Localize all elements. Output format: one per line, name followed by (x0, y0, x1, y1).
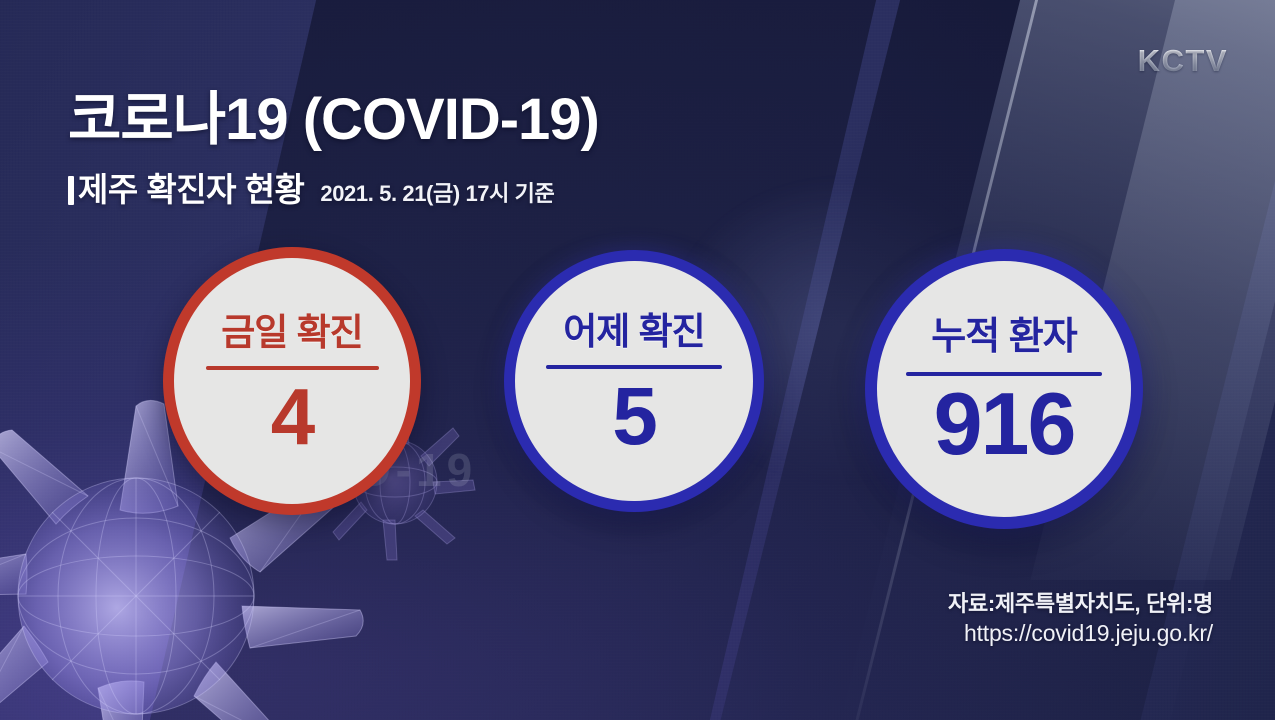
stat-value-today: 4 (271, 379, 314, 455)
kctv-logo: KCTV (1138, 43, 1228, 79)
stat-circle-cumulative: 누적 환자 916 (865, 249, 1143, 529)
stat-label-yesterday: 어제 확진 (563, 313, 704, 350)
subtitle-wrapper: 제주 확진자 현황 (68, 163, 304, 211)
broadcast-graphic: COVID-19 KCTV 코로나19 (COVID-19) 제주 확진자 현황… (0, 0, 1275, 720)
page-subtitle: 제주 확진자 현황 (78, 171, 304, 208)
accent-bar-icon (68, 176, 74, 205)
stat-divider-yesterday (546, 365, 722, 369)
stat-value-yesterday: 5 (612, 378, 656, 456)
source-credit: 자료:제주특별자치도, 단위:명 (948, 590, 1213, 618)
as-of-timestamp: 2021. 5. 21(금) 17시 기준 (320, 176, 554, 208)
stat-label-today: 금일 확진 (221, 314, 362, 351)
stat-value-cumulative: 916 (934, 382, 1075, 466)
source-block: 자료:제주특별자치도, 단위:명 https://covid19.jeju.go… (948, 590, 1213, 648)
source-url: https://covid19.jeju.go.kr/ (948, 619, 1213, 648)
page-title: 코로나19 (COVID-19) (68, 90, 599, 150)
headline-block: 코로나19 (COVID-19) 제주 확진자 현황 2021. 5. 21(금… (68, 90, 599, 211)
stat-circle-today: 금일 확진 4 (163, 247, 421, 515)
stat-label-cumulative: 누적 환자 (931, 318, 1076, 356)
stat-circle-yesterday: 어제 확진 5 (504, 250, 764, 512)
subtitle-row: 제주 확진자 현황 2021. 5. 21(금) 17시 기준 (68, 163, 599, 211)
stat-divider-today (206, 366, 379, 370)
